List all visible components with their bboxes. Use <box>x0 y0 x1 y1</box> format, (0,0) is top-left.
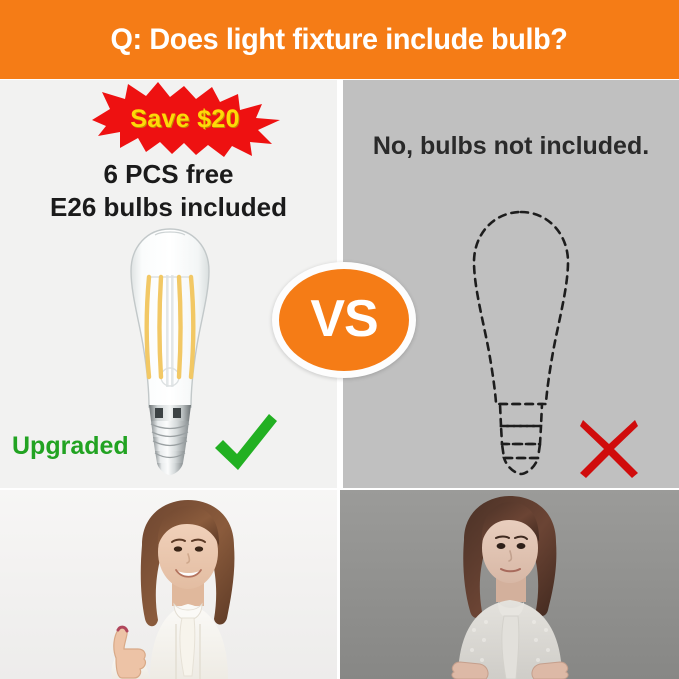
bulb-collar-notch-2 <box>173 408 181 418</box>
starburst-icon <box>80 82 290 157</box>
vs-badge-label: VS <box>310 293 377 345</box>
dashed-bulb-ring-3 <box>502 444 540 458</box>
smiling-woman-thumbs-up-photo <box>0 490 337 679</box>
dashed-bulb-glyph <box>452 208 590 476</box>
comparison-infographic: Q: Does light fixture include bulb? Save… <box>0 0 679 679</box>
right-headline: No, bulbs not included. <box>343 132 679 161</box>
right-photo <box>340 490 679 679</box>
disappointed-woman-photo <box>340 490 679 679</box>
left-headline-line2: E26 bulbs included <box>0 191 337 224</box>
vs-badge: VS <box>272 262 416 378</box>
page-title: Q: Does light fixture include bulb? <box>111 23 568 57</box>
dashed-bulb-glass <box>474 212 568 404</box>
bulb-stem-left <box>166 275 169 387</box>
left-headline: 6 PCS free E26 bulbs included <box>0 158 337 224</box>
check-glyph <box>213 410 279 476</box>
save-badge: Save $20 <box>80 82 290 157</box>
red-x-icon <box>578 418 640 480</box>
upgraded-label: Upgraded <box>12 432 129 461</box>
left-headline-line1: 6 PCS free <box>0 158 337 191</box>
bulb-screw-base <box>151 421 189 475</box>
dashed-bulb-ring-2 <box>501 426 541 444</box>
bulb-stem-right <box>171 275 174 387</box>
header-banner: Q: Does light fixture include bulb? <box>0 0 679 79</box>
dashed-bulb-tip <box>504 458 538 474</box>
x-glyph <box>578 418 640 480</box>
dashed-bulb-outline-icon <box>452 208 590 476</box>
green-check-icon <box>213 410 279 476</box>
dashed-bulb-ring-1 <box>500 404 542 426</box>
bulb-glass <box>131 229 209 407</box>
bulb-collar-notch-1 <box>155 408 163 418</box>
left-photo <box>0 490 337 679</box>
